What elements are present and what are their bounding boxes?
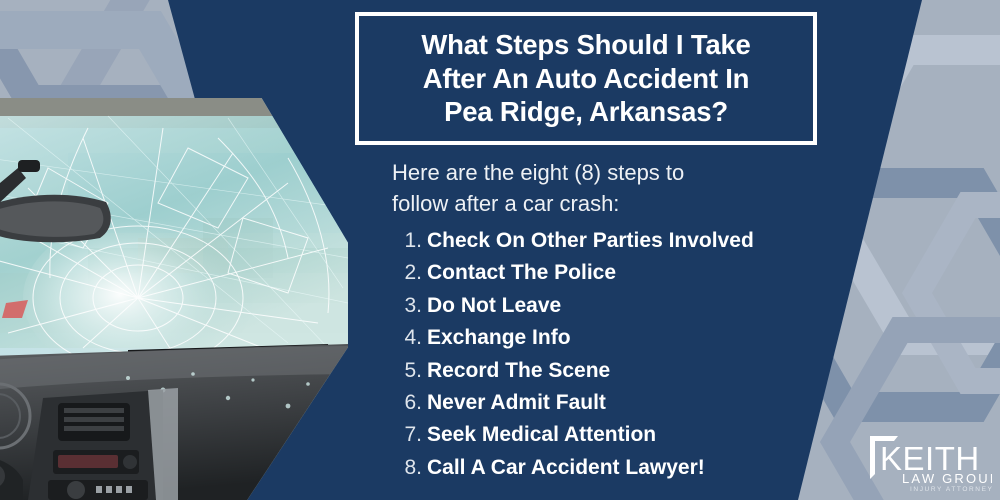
step-label: Never Admit Fault: [427, 391, 606, 415]
keith-law-group-logo[interactable]: KEITH LAW GROUP INJURY ATTORNEYS: [868, 430, 992, 492]
title-box: What Steps Should I Take After An Auto A…: [355, 12, 817, 145]
step-number: 2.: [398, 261, 422, 285]
logo-tagline: INJURY ATTORNEYS: [910, 486, 992, 492]
step-label: Check On Other Parties Involved: [427, 229, 754, 253]
step-number: 6.: [398, 391, 422, 415]
step-number: 3.: [398, 294, 422, 318]
list-item: 2. Contact The Police: [398, 261, 818, 293]
step-label: Seek Medical Attention: [427, 423, 656, 447]
step-label: Do Not Leave: [427, 294, 561, 318]
step-number: 1.: [398, 229, 422, 253]
list-item: 7. Seek Medical Attention: [398, 423, 818, 455]
step-number: 5.: [398, 359, 422, 383]
list-item: 5. Record The Scene: [398, 359, 818, 391]
list-item: 6. Never Admit Fault: [398, 391, 818, 423]
logo-line2: LAW GROUP: [902, 471, 992, 486]
step-label: Record The Scene: [427, 359, 610, 383]
step-label: Call A Car Accident Lawyer!: [427, 456, 705, 480]
content-layer: What Steps Should I Take After An Auto A…: [0, 0, 1000, 500]
logo-graphic: KEITH LAW GROUP INJURY ATTORNEYS: [868, 430, 992, 492]
step-number: 4.: [398, 326, 422, 350]
step-label: Contact The Police: [427, 261, 616, 285]
infographic-canvas: What Steps Should I Take After An Auto A…: [0, 0, 1000, 500]
page-title: What Steps Should I Take After An Auto A…: [415, 28, 756, 129]
intro-text: Here are the eight (8) steps to follow a…: [392, 157, 822, 219]
list-item: 8. Call A Car Accident Lawyer!: [398, 456, 818, 488]
step-label: Exchange Info: [427, 326, 571, 350]
steps-list: 1. Check On Other Parties Involved 2. Co…: [398, 229, 818, 488]
step-number: 7.: [398, 423, 422, 447]
list-item: 4. Exchange Info: [398, 326, 818, 358]
list-item: 3. Do Not Leave: [398, 294, 818, 326]
step-number: 8.: [398, 456, 422, 480]
list-item: 1. Check On Other Parties Involved: [398, 229, 818, 261]
